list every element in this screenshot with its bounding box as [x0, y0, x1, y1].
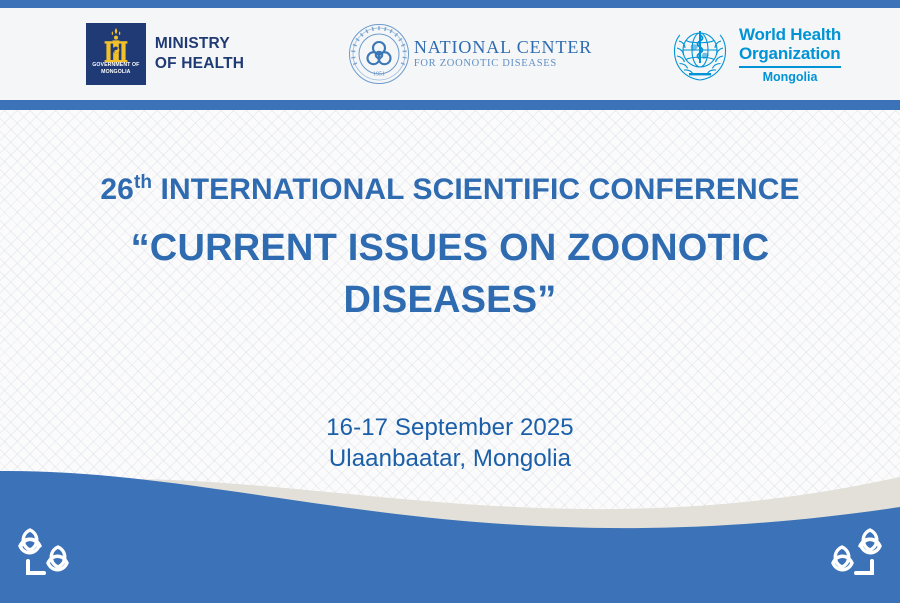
- top-accent-rule: [0, 0, 900, 8]
- conference-theme-line2: DISEASES”: [0, 274, 900, 326]
- triquetra-knot-ornament-right: [814, 523, 886, 581]
- conference-theme-title: “CURRENT ISSUES ON ZOONOTIC DISEASES”: [0, 222, 900, 326]
- event-dates: 16-17 September 2025: [0, 412, 900, 443]
- who-divider-rule: [739, 66, 841, 68]
- logo-world-health-organization: World Health Organization Mongolia: [610, 23, 900, 85]
- conference-edition-line: 26th INTERNATIONAL SCIENTIFIC CONFERENCE: [0, 172, 900, 208]
- conference-number: 26: [100, 173, 134, 206]
- ribbon-beige-layer: [0, 477, 900, 603]
- ministry-of-health-wordmark: MINISTRY OF HEALTH: [155, 34, 244, 74]
- logo-national-center-zoonotic-diseases: 1951 NATIONAL CENTER FOR ZOONOTIC DISEAS…: [330, 23, 610, 85]
- ribbon-blue-layer: [0, 471, 900, 603]
- who-country-label: Mongolia: [739, 70, 841, 84]
- conference-title-slide: GOVERNMENT OF MONGOLIA MINISTRY OF HEALT…: [0, 0, 900, 603]
- conference-label: INTERNATIONAL SCIENTIFIC CONFERENCE: [152, 173, 800, 206]
- nczd-name-line1: NATIONAL CENTER: [414, 37, 592, 57]
- who-name-line1: World Health: [739, 25, 841, 44]
- nczd-wordmark: NATIONAL CENTER FOR ZOONOTIC DISEASES: [414, 37, 592, 71]
- header-logo-band: GOVERNMENT OF MONGOLIA MINISTRY OF HEALT…: [0, 8, 900, 100]
- logo-ministry-of-health: GOVERNMENT OF MONGOLIA MINISTRY OF HEALT…: [0, 23, 330, 85]
- who-globe-laurel-icon: [669, 23, 731, 85]
- nczd-biohazard-seal-icon: 1951: [348, 23, 410, 85]
- nczd-name-line2: FOR ZOONOTIC DISEASES: [414, 57, 592, 71]
- seal-year: 1951: [373, 72, 385, 78]
- emblem-caption-line2: MONGOLIA: [86, 69, 146, 76]
- mongolia-state-emblem-icon: GOVERNMENT OF MONGOLIA: [86, 23, 146, 85]
- conference-theme-line1: “CURRENT ISSUES ON ZOONOTIC: [0, 222, 900, 274]
- emblem-caption-line1: GOVERNMENT OF: [86, 62, 146, 69]
- moh-name-line1: MINISTRY: [155, 34, 244, 54]
- conference-ordinal-suffix: th: [134, 172, 152, 193]
- who-wordmark: World Health Organization Mongolia: [739, 25, 841, 84]
- moh-name-line2: OF HEALTH: [155, 54, 244, 74]
- triquetra-knot-ornament-left: [14, 523, 86, 581]
- slide-body: 26th INTERNATIONAL SCIENTIFIC CONFERENCE…: [0, 110, 900, 603]
- headline-block: 26th INTERNATIONAL SCIENTIFIC CONFERENCE…: [0, 172, 900, 326]
- event-location: Ulaanbaatar, Mongolia: [0, 443, 900, 474]
- who-name-line2: Organization: [739, 44, 841, 63]
- event-meta-block: 16-17 September 2025 Ulaanbaatar, Mongol…: [0, 412, 900, 474]
- header-divider-rule: [0, 100, 900, 110]
